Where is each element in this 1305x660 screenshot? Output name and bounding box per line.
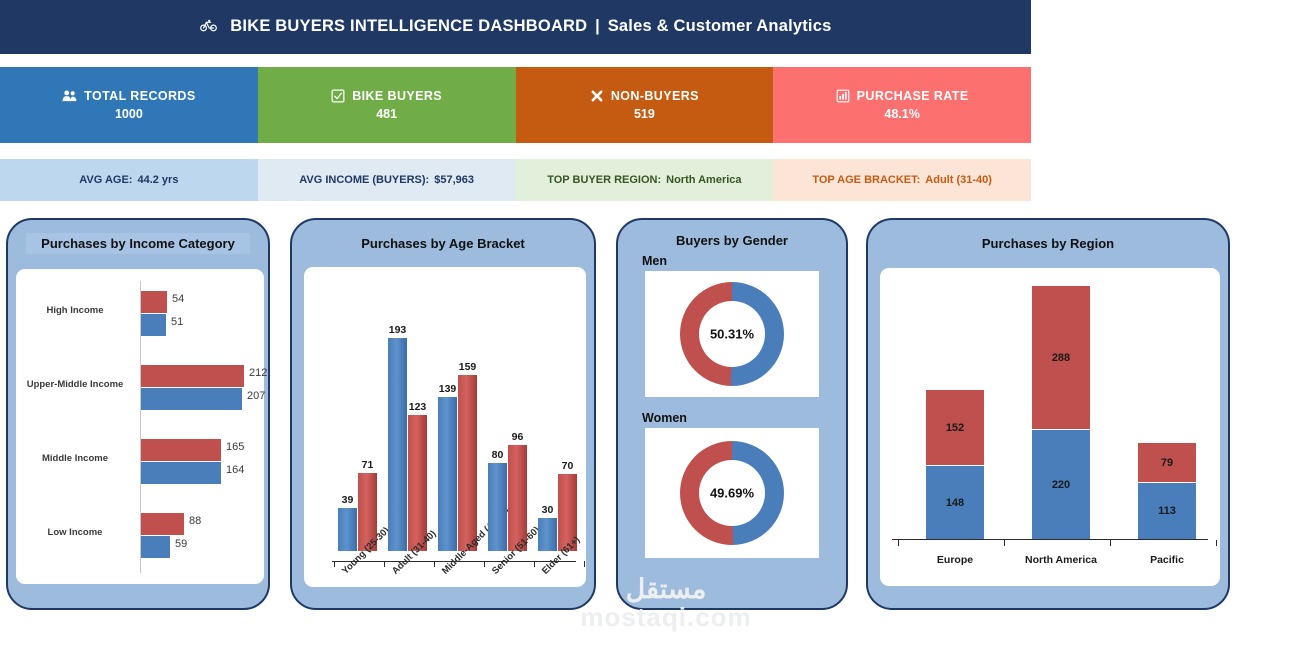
region-axis-tick [898,540,899,546]
kpi-row: TOTAL RECORDS 1000 BIKE BUYERS 481 NON-B… [0,67,1031,143]
income-row: Middle Income165164 [16,433,264,489]
income-bar-value: 54 [172,293,184,305]
kpi-card-purchase-rate[interactable]: PURCHASE RATE 48.1% [773,67,1031,143]
kpi-value: 48.1% [884,107,919,121]
panel-title: Purchases by Region [888,233,1208,254]
region-axis-tick [1110,540,1111,546]
people-group-icon [62,90,77,102]
income-category-label: High Income [16,305,134,316]
age-axis-tick [584,561,585,567]
income-bar-group: 5451 [141,291,167,336]
donut-ring-women: 49.69% [680,441,784,545]
x-mark-icon [590,89,604,103]
kpi-label: TOTAL RECORDS [84,89,195,103]
age-bar: 30 [538,518,557,551]
stat-label: AVG AGE: [79,174,132,186]
bicycle-icon [200,18,217,37]
age-bar-value: 70 [562,460,574,472]
region-stacked-bar: 288220 [1032,286,1090,539]
income-chart[interactable]: High Income5451Upper-Middle Income212207… [16,269,264,584]
stat-label: TOP AGE BRACKET: [812,174,920,186]
region-stacked-bar: 152148 [926,390,984,539]
kpi-label: PURCHASE RATE [857,89,969,103]
kpi-value: 481 [376,107,397,121]
income-bar-group: 165164 [141,439,221,484]
region-axis-label: Europe [906,554,1004,566]
donut-ring-men: 50.31% [680,282,784,386]
region-chart-area: 152148Europe288220North America79113Paci… [880,268,1220,586]
kpi-card-total-records[interactable]: TOTAL RECORDS 1000 [0,67,258,143]
income-bar: 164 [141,462,221,484]
income-bar: 88 [141,513,184,535]
age-axis-tick [484,561,485,567]
gender-label-men: Men [642,254,846,268]
panel-purchases-by-age: Purchases by Age Bracket 3971Young (25-3… [290,218,596,610]
income-bar-value: 88 [189,515,201,527]
donut-chart-men[interactable]: 50.31% [645,271,819,397]
income-bar: 54 [141,291,167,313]
stat-top-age-bracket: TOP AGE BRACKET: Adult (31-40) [773,159,1031,201]
stat-value: North America [666,174,741,186]
age-chart[interactable]: 3971Young (25-30)193123Adult (31-40)1391… [304,267,586,587]
region-axis-label: North America [1012,554,1110,566]
income-bar-value: 51 [171,316,183,328]
income-bar-value: 59 [175,538,187,550]
income-category-label: Upper-Middle Income [16,379,134,390]
age-bar-value: 80 [492,449,504,461]
income-bar-group: 212207 [141,365,244,410]
stat-value: Adult (31-40) [925,174,992,186]
age-bar-value: 30 [542,504,554,516]
dashboard-header: BIKE BUYERS INTELLIGENCE DASHBOARD | Sal… [0,0,1031,54]
income-bar-value: 207 [247,390,265,402]
age-bar: 159 [458,375,477,551]
stat-label: AVG INCOME (BUYERS): [299,174,429,186]
age-bar-value: 71 [362,459,374,471]
stat-value: $57,963 [434,174,474,186]
income-bar: 51 [141,314,166,336]
region-bar-segment: 113 [1138,482,1196,539]
header-title: BIKE BUYERS INTELLIGENCE DASHBOARD [230,17,587,35]
bar-chart-icon [836,89,850,103]
kpi-card-non-buyers[interactable]: NON-BUYERS 519 [516,67,774,143]
income-bar: 59 [141,536,170,558]
age-bar: 39 [338,508,357,551]
age-bar-value: 123 [409,401,427,413]
age-bar: 80 [488,463,507,551]
income-bar-value: 164 [226,464,244,476]
age-bar-value: 193 [389,324,407,336]
income-bar-value: 212 [249,367,267,379]
income-bar: 165 [141,439,221,461]
region-chart[interactable]: 152148Europe288220North America79113Paci… [880,268,1220,586]
region-bar-segment: 152 [926,390,984,465]
region-axis-tick [1004,540,1005,546]
region-bar-segment: 220 [1032,429,1090,539]
age-axis-tick [434,561,435,567]
donut-chart-women[interactable]: 49.69% [645,428,819,558]
income-bar: 207 [141,388,242,410]
age-bar-value: 96 [512,431,524,443]
checkbox-check-icon [331,89,345,103]
age-bar-value: 159 [459,361,477,373]
age-bar-group: 193123 [388,338,436,551]
kpi-label: BIKE BUYERS [352,89,442,103]
age-bar-group: 139159 [438,375,486,551]
region-axis-label: Pacific [1118,554,1216,566]
income-bar: 212 [141,365,244,387]
age-bar: 123 [408,415,427,551]
panel-title: Buyers by Gender [627,231,837,250]
kpi-value: 1000 [115,107,143,121]
income-bar-rows: High Income5451Upper-Middle Income212207… [16,269,264,584]
age-axis-tick [334,561,335,567]
income-category-label: Low Income [16,527,134,538]
age-axis-tick [384,561,385,567]
region-bar-segment: 79 [1138,443,1196,482]
age-bar-value: 39 [342,494,354,506]
income-category-label: Middle Income [16,453,134,464]
kpi-card-bike-buyers[interactable]: BIKE BUYERS 481 [258,67,516,143]
panel-title: Purchases by Income Category [26,233,250,254]
stat-label: TOP BUYER REGION: [547,174,661,186]
donut-center-label-women: 49.69% [710,486,754,501]
age-bar-value: 139 [439,383,457,395]
stat-avg-age: AVG AGE: 44.2 yrs [0,159,258,201]
income-row: Upper-Middle Income212207 [16,359,264,415]
kpi-value: 519 [634,107,655,121]
stat-avg-income: AVG INCOME (BUYERS): $57,963 [258,159,516,201]
panel-purchases-by-income: Purchases by Income Category High Income… [6,218,270,610]
gender-label-women: Women [642,411,846,425]
kpi-label: NON-BUYERS [611,89,699,103]
header-separator: | [592,17,603,35]
donut-center-label-men: 50.31% [710,327,754,342]
header-text: BIKE BUYERS INTELLIGENCE DASHBOARD | Sal… [200,17,832,36]
region-axis-tick [1216,540,1217,546]
age-bar: 139 [438,397,457,551]
header-subtitle: Sales & Customer Analytics [608,17,832,35]
stat-value: 44.2 yrs [137,174,178,186]
panel-title: Purchases by Age Bracket [310,233,576,254]
region-stacked-bar: 79113 [1138,443,1196,539]
age-axis-tick [534,561,535,567]
age-chart-area: 3971Young (25-30)193123Adult (31-40)1391… [322,277,578,587]
income-row: Low Income8859 [16,507,264,563]
age-bar: 193 [388,338,407,551]
region-bar-segment: 148 [926,465,984,539]
income-row: High Income5451 [16,285,264,341]
region-axis-line [892,539,1208,540]
secondary-stats-row: AVG AGE: 44.2 yrs AVG INCOME (BUYERS): $… [0,159,1031,201]
region-bar-segment: 288 [1032,286,1090,429]
income-bar-group: 8859 [141,513,184,558]
panel-purchases-by-region: Purchases by Region 152148Europe288220No… [866,218,1230,610]
income-bar-value: 165 [226,441,244,453]
panel-buyers-by-gender: Buyers by Gender Men 50.31% Women 49.69% [616,218,848,610]
stat-top-region: TOP BUYER REGION: North America [516,159,774,201]
